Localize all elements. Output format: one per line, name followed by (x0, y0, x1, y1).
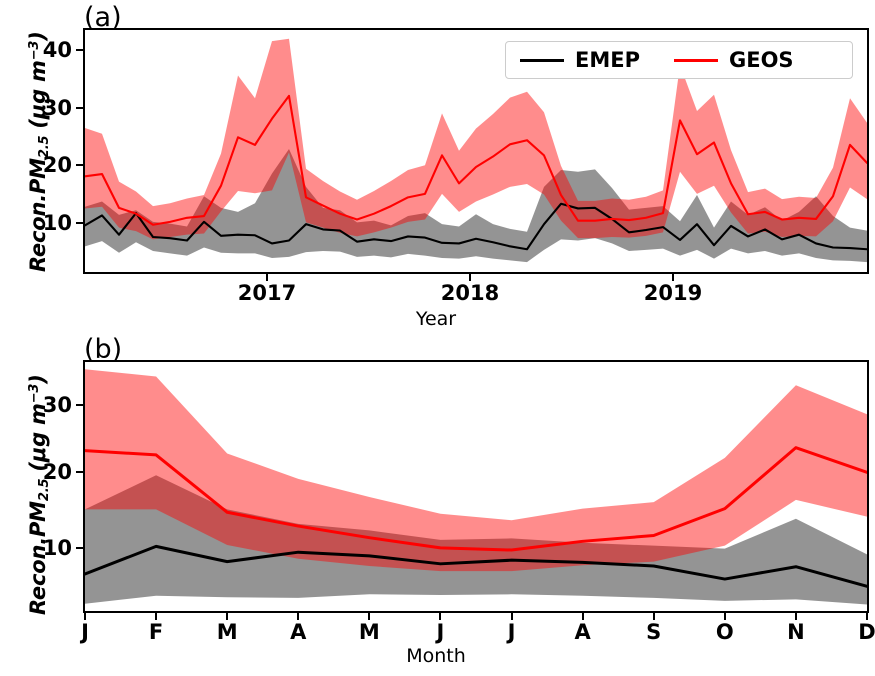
panel-b-xtick-label-7: A (553, 620, 613, 644)
panel-b-ylabel-close: ) (26, 374, 50, 383)
panel-b-x-axis-label: Month (376, 645, 496, 667)
panel-a-ytick-mark-10 (76, 222, 83, 224)
panel-b-xtick-label-11: D (837, 620, 875, 644)
panel-b-xtick-mark-d-11 (866, 613, 868, 620)
panel-b-xtick-mark-m-4 (368, 613, 370, 620)
panel-a-ytick-mark-40 (76, 49, 83, 51)
panel-b-ytick-20: 20 (20, 460, 72, 484)
panel-a-xtick-2017: 2017 (212, 281, 322, 305)
panel-a-ylabel-open: ( (26, 119, 50, 136)
panel-b-xtick-label-0: J (55, 620, 115, 644)
legend-line-emep (520, 59, 564, 62)
panel-b-xtick-mark-o-9 (724, 613, 726, 620)
panel-a-ytick-mark-20 (76, 164, 83, 166)
legend-label-emep: EMEP (575, 48, 640, 72)
panel-a-xtick-mark-2017 (266, 274, 268, 281)
panel-b-ytick-10: 10 (20, 536, 72, 560)
panel-b-ytick-30: 30 (20, 393, 72, 417)
legend[interactable]: EMEP GEOS (505, 41, 853, 79)
legend-line-geos (674, 59, 718, 62)
legend-entry-emep[interactable]: EMEP (520, 48, 640, 72)
panel-b-ytick-mark-10 (76, 547, 83, 549)
panel-b-ylabel-var: PM (26, 501, 50, 537)
panel-a-ytick-40: 40 (20, 38, 72, 62)
panel-b-xtick-label-9: O (695, 620, 755, 644)
legend-entry-geos[interactable]: GEOS (674, 48, 794, 72)
panel-b-xtick-mark-j-6 (511, 613, 513, 620)
panel-b-xtick-label-4: M (339, 620, 399, 644)
panel-a-ytick-30: 30 (20, 96, 72, 120)
panel-b-series-canvas (85, 362, 867, 611)
panel-b-xtick-mark-n-10 (795, 613, 797, 620)
panel-b-xtick-label-10: N (766, 620, 826, 644)
panel-b-xtick-mark-s-8 (653, 613, 655, 620)
panel-b-plot-area (83, 360, 869, 613)
panel-b-letter: (b) (84, 336, 122, 363)
panel-a-ytick-20: 20 (20, 153, 72, 177)
panel-b-xtick-mark-m-2 (226, 613, 228, 620)
panel-b-xtick-label-8: S (624, 620, 684, 644)
legend-label-geos: GEOS (729, 48, 794, 72)
panel-b-xtick-mark-a-7 (582, 613, 584, 620)
panel-b-xtick-label-3: A (268, 620, 328, 644)
panel-b-xtick-label-5: J (410, 620, 470, 644)
figure-root: (a) Recon.PM2.5 (μg m−3) 40 30 20 10 201… (0, 0, 875, 676)
panel-b-xtick-label-2: M (197, 620, 257, 644)
panel-b-ytick-mark-30 (76, 404, 83, 406)
panel-b-xtick-mark-f-1 (155, 613, 157, 620)
panel-a-xtick-mark-2018 (469, 274, 471, 281)
panel-b-xtick-mark-j-5 (439, 613, 441, 620)
panel-b-xtick-label-6: J (482, 620, 542, 644)
panel-a-y-axis-label: Recon.PM2.5 (μg m−3) (26, 31, 52, 272)
panel-b-xtick-mark-a-3 (297, 613, 299, 620)
panel-a-ytick-mark-30 (76, 107, 83, 109)
panel-a-letter: (a) (84, 4, 122, 31)
panel-b-ytick-mark-20 (76, 471, 83, 473)
panel-a-xtick-2018: 2018 (415, 281, 525, 305)
panel-a-xtick-2019: 2019 (618, 281, 728, 305)
panel-a-ytick-10: 10 (20, 211, 72, 235)
panel-a-x-axis-label: Year (376, 308, 496, 330)
panel-b-xtick-mark-j-0 (84, 613, 86, 620)
panel-a-xtick-mark-2019 (672, 274, 674, 281)
panel-b-xtick-label-1: F (126, 620, 186, 644)
